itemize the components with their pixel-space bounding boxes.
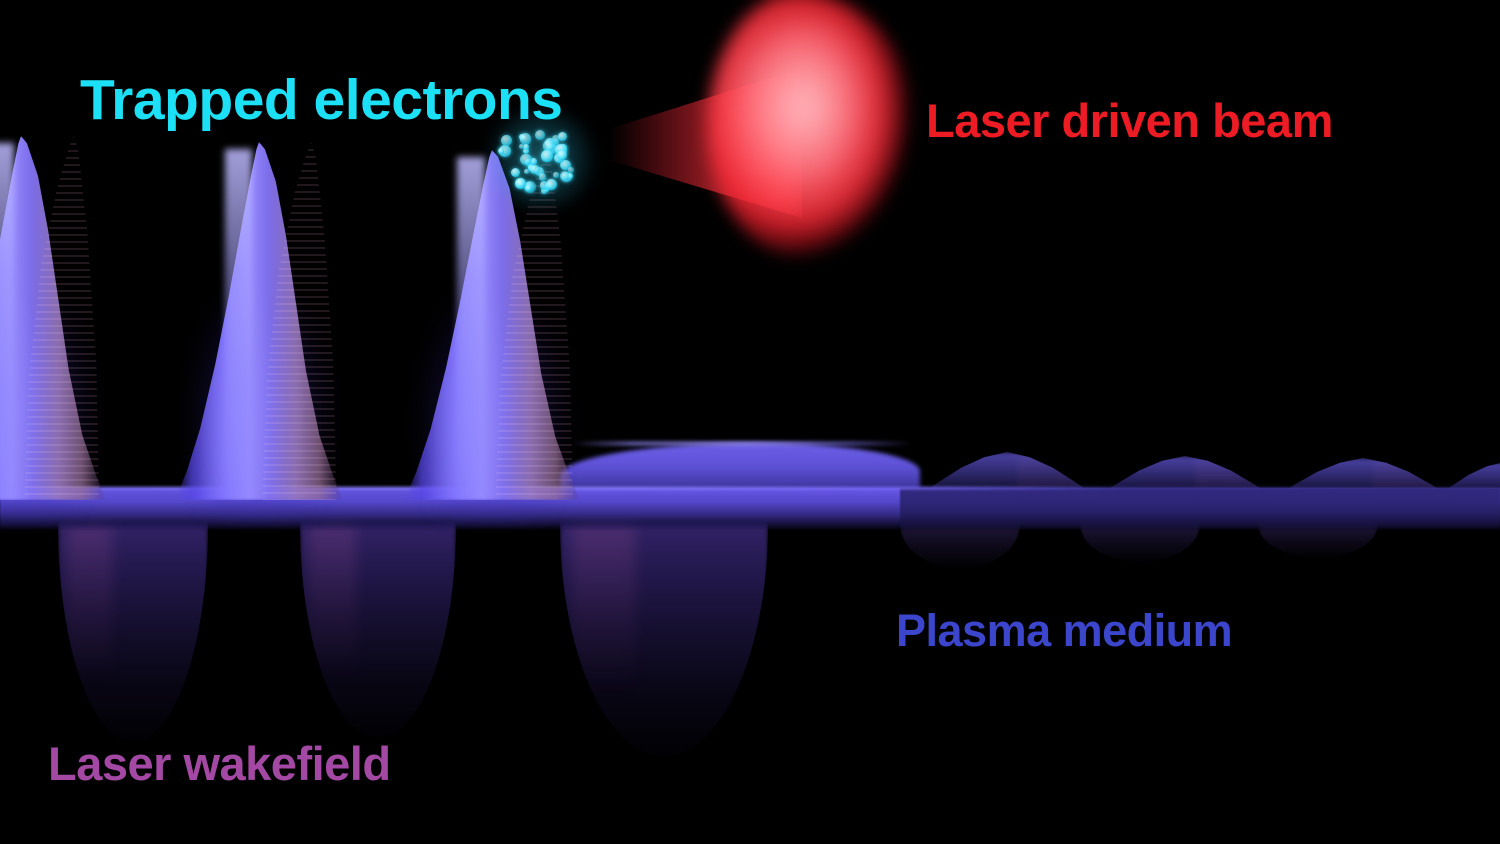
wakefield-trough	[560, 524, 768, 756]
electron-particle	[530, 165, 539, 174]
electron-particle	[498, 148, 504, 154]
electron-particle	[541, 150, 552, 161]
electron-particle	[546, 179, 557, 190]
electron-particle	[501, 135, 512, 146]
peak-highlight	[457, 157, 485, 500]
label-plasma-medium: Plasma medium	[896, 608, 1232, 653]
label-laser-wakefield: Laser wakefield	[48, 740, 391, 787]
figure-canvas: Trapped electrons Laser driven beam Plas…	[0, 0, 1500, 844]
beam-tail	[612, 68, 802, 218]
plasma-cavity-plateau-edge	[572, 441, 912, 446]
trough-tint	[572, 524, 634, 691]
beam-head	[708, 0, 916, 260]
wakefield-trough-small	[900, 524, 1020, 568]
wakefield-peak	[175, 142, 343, 500]
beam-bright-core	[740, 18, 890, 228]
laser-driven-beam	[612, 0, 912, 272]
peak-highlight	[0, 143, 14, 500]
electron-particle	[553, 172, 558, 177]
wakefield-trough	[58, 524, 208, 742]
electron-particle	[515, 178, 526, 189]
label-trapped-electrons: Trapped electrons	[80, 72, 563, 129]
plasma-medium-slab-far	[900, 488, 1500, 530]
trough-tint	[309, 524, 356, 678]
electron-particle	[558, 132, 567, 141]
electron-particle	[539, 173, 546, 180]
electron-particle	[568, 167, 574, 173]
peak-highlight	[225, 149, 252, 500]
label-laser-driven-beam: Laser driven beam	[926, 97, 1333, 144]
trough-tint	[67, 524, 112, 681]
wakefield-peak	[0, 136, 106, 500]
electron-particle	[520, 154, 531, 165]
wakefield-trough	[300, 524, 456, 738]
electron-particle	[525, 185, 532, 192]
